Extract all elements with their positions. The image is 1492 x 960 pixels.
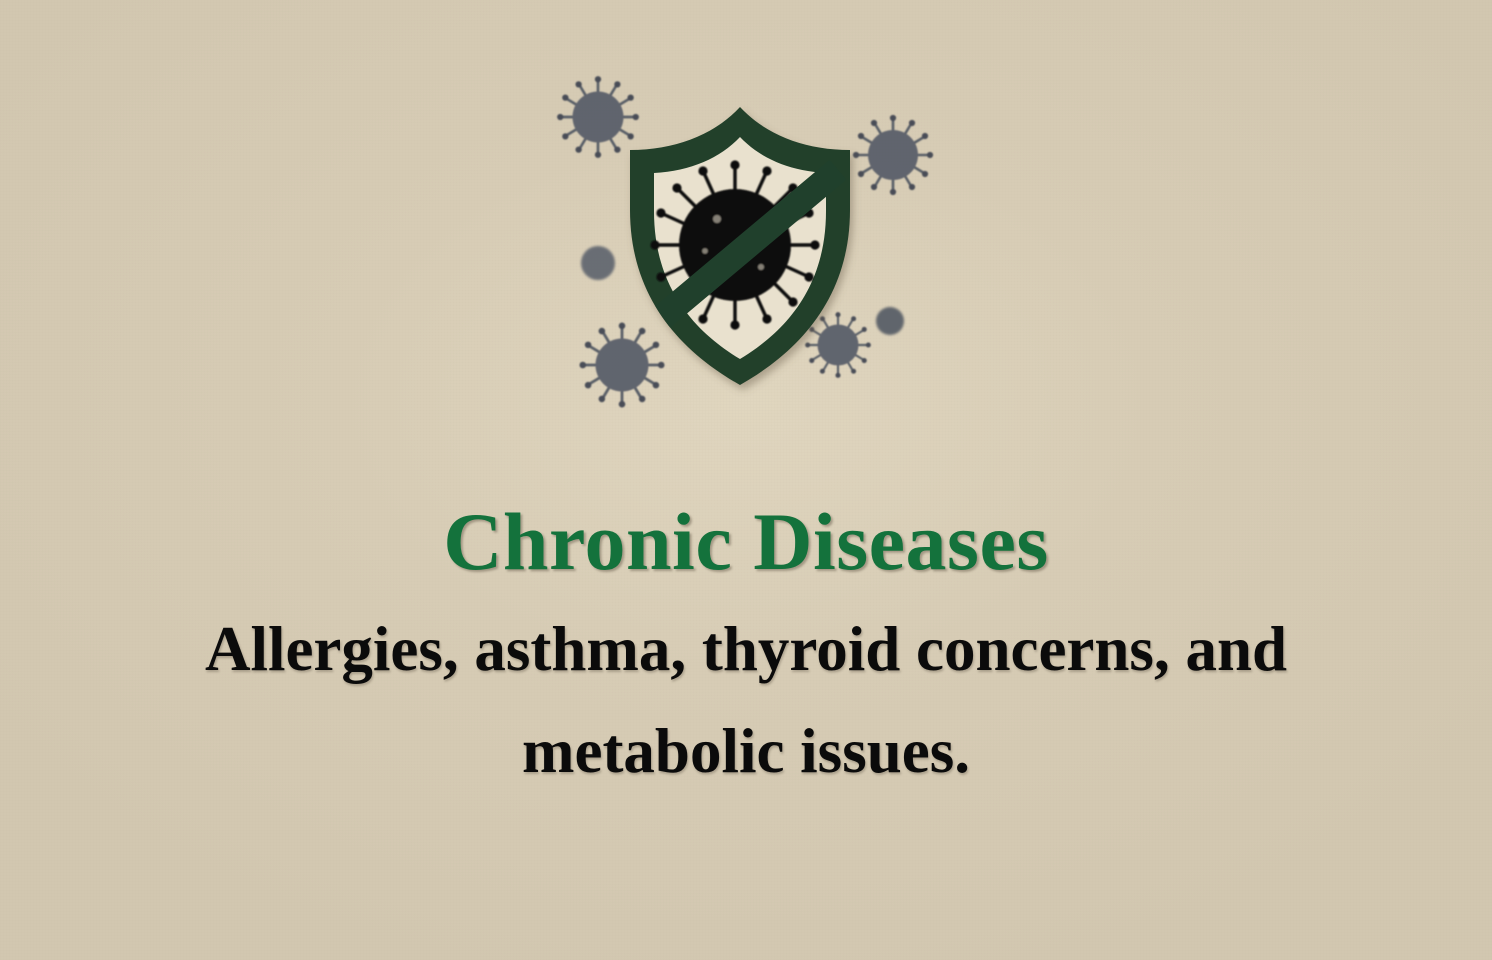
subtitle-line-1: Allergies, asthma, thyroid concerns, and [96, 598, 1396, 700]
virus-particle-icon [876, 307, 904, 335]
page-title: Chronic Diseases [0, 501, 1492, 583]
slide-canvas: Chronic Diseases Allergies, asthma, thyr… [0, 0, 1492, 960]
virus-particle-icon [579, 322, 664, 407]
virus-particle-icon [557, 76, 639, 158]
virus-particle-icon [805, 312, 871, 378]
virus-particle-icon [581, 246, 615, 280]
page-subtitle: Allergies, asthma, thyroid concerns, and… [96, 598, 1396, 802]
virus-particle-icon [853, 115, 933, 195]
hero-illustration [530, 45, 980, 435]
subtitle-line-2: metabolic issues. [96, 700, 1396, 802]
